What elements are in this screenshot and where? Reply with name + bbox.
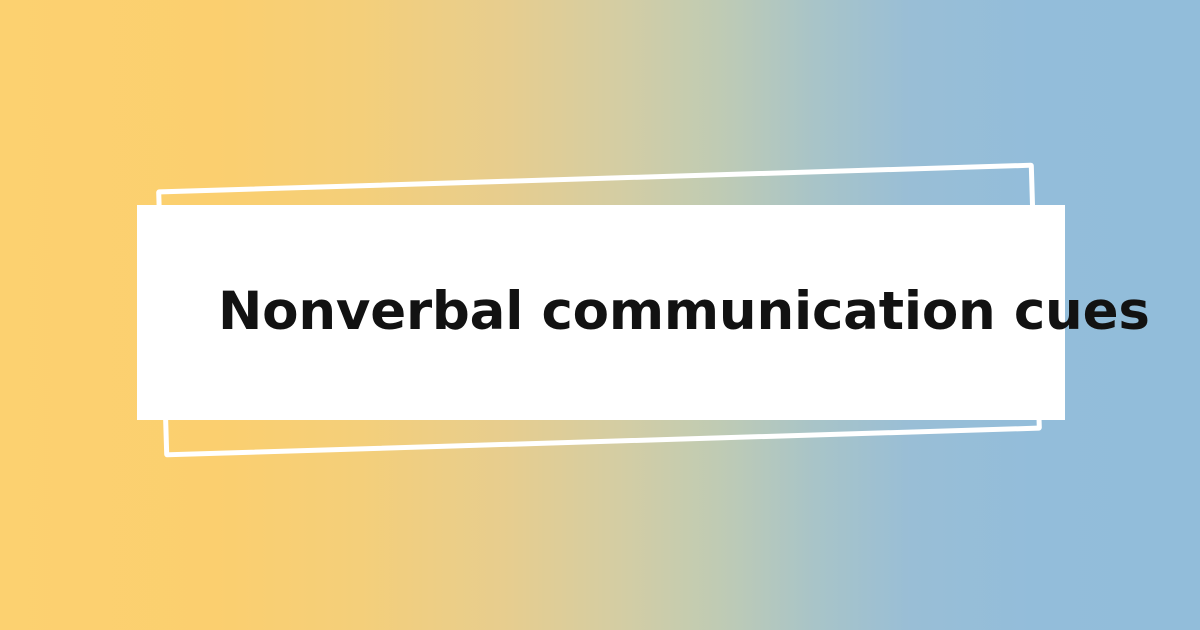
banner-canvas: Nonverbal communication cues [0,0,1200,630]
page-title: Nonverbal communication cues [218,281,1150,344]
title-card: Nonverbal communication cues [137,205,1065,420]
